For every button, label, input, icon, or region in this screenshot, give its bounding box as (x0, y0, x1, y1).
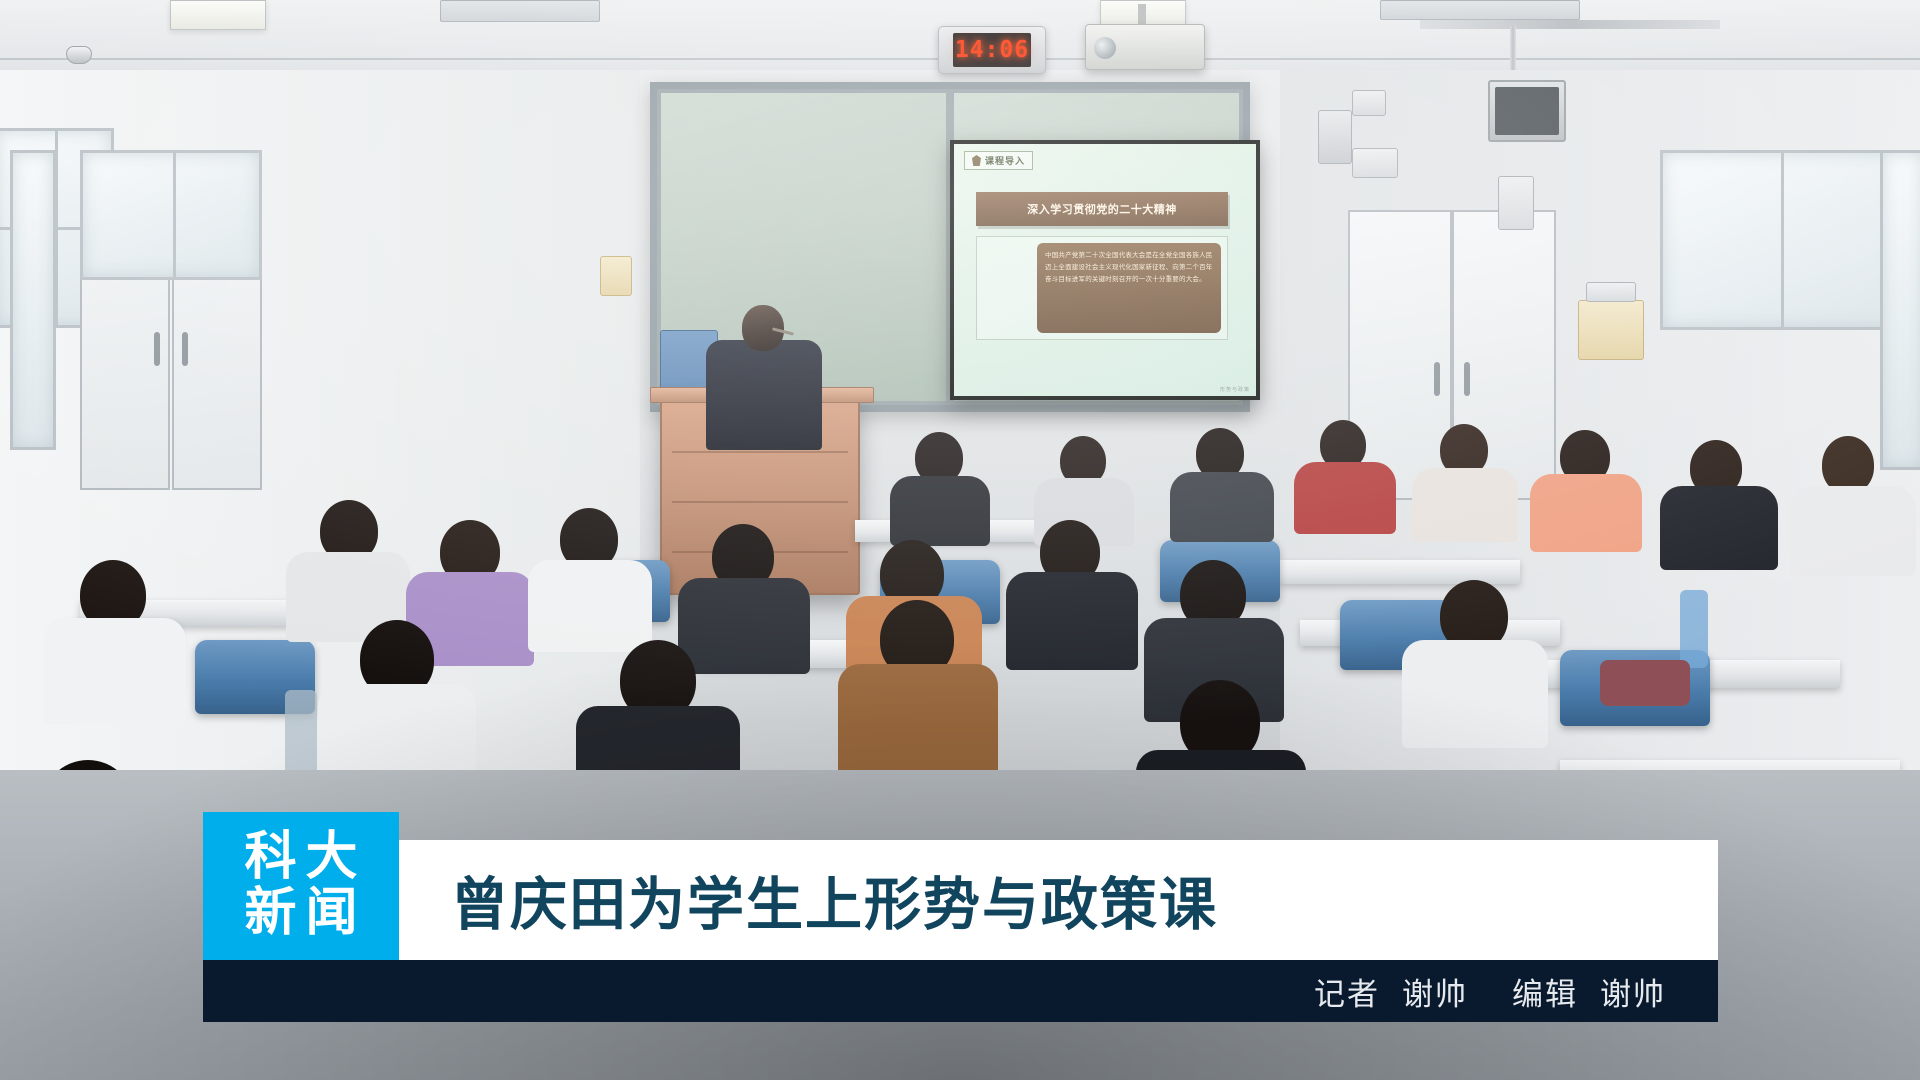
student-torso (1530, 474, 1642, 552)
water-bottle (285, 690, 317, 776)
slide-body: 中国共产党第二十次全国代表大会是在全党全国各族人民迈上全面建设社会主义现代化国家… (976, 236, 1228, 340)
slide-body-text: 中国共产党第二十次全国代表大会是在全党全国各族人民迈上全面建设社会主义现代化国家… (1037, 243, 1221, 333)
wall-box-small (1586, 282, 1636, 302)
student-torso (528, 560, 652, 652)
handbag (1600, 660, 1690, 706)
projector-mount (1138, 4, 1146, 26)
channel-logo: 科大 新闻 (203, 812, 399, 960)
statue-illustration (983, 244, 1031, 332)
window-right-side (1880, 150, 1920, 470)
student-desk (1280, 560, 1520, 584)
credit-bar: 记者谢帅编辑谢帅 (203, 960, 1718, 1022)
wall-monitor (1488, 80, 1566, 142)
channel-logo-line-1: 科大 (235, 831, 366, 885)
slide-footer-note: 形势与政策 (1220, 386, 1250, 393)
student-torso (1660, 486, 1778, 570)
headline-bar: 曾庆田为学生上形势与政策课 (399, 840, 1718, 960)
student-torso (890, 476, 990, 546)
channel-logo-line-2: 新闻 (235, 887, 366, 941)
slide-section-tag: 课程导入 (964, 151, 1033, 170)
ceiling-panel (440, 0, 600, 22)
student-torso (1790, 486, 1916, 576)
wall-box (1352, 148, 1398, 178)
wall-box-small (1352, 90, 1386, 116)
reporter-label: 记者 (1314, 977, 1380, 1013)
security-camera (66, 46, 92, 64)
reporter-name: 谢帅 (1402, 977, 1468, 1013)
ceiling-pipe (1420, 20, 1720, 29)
teacher-torso (706, 340, 822, 450)
lecture-slide: 课程导入 深入学习贯彻党的二十大精神 中国共产党第二十次全国代表大会是在全党全国… (954, 144, 1256, 396)
editor-label: 编辑 (1512, 977, 1578, 1013)
headline-text: 曾庆田为学生上形势与政策课 (451, 859, 1218, 941)
student-torso (838, 664, 998, 786)
student-torso (1170, 472, 1274, 542)
slide-section-label: 课程导入 (985, 154, 1025, 167)
clock-face: 14:06 (953, 33, 1031, 67)
slide-banner-title: 深入学习贯彻党的二十大精神 (976, 192, 1228, 226)
clock-time: 14:06 (955, 37, 1029, 63)
party-emblem-icon (972, 155, 981, 166)
water-bottle (1680, 590, 1708, 668)
digital-wall-clock: 14:06 (938, 26, 1046, 74)
wall-speaker (1318, 110, 1352, 164)
student-torso (1294, 462, 1396, 534)
student-torso (1006, 572, 1138, 670)
window-side (10, 150, 56, 450)
student-torso (44, 618, 186, 724)
window-right (1660, 150, 1900, 330)
projection-screen: 课程导入 深入学习贯彻党的二十大精神 中国共产党第二十次全国代表大会是在全党全国… (950, 140, 1260, 400)
student-torso (1412, 468, 1518, 542)
ceiling-panel (1380, 0, 1580, 20)
electrical-panel (1578, 300, 1644, 360)
editor-name: 谢帅 (1600, 977, 1666, 1013)
door-glass (80, 150, 262, 280)
projector (1085, 24, 1205, 70)
broadcast-frame: 14:06 课程导入 深入学习贯彻党的二十大精神 中国共产党第二十次全国代表大会… (0, 0, 1920, 1080)
student-torso (1402, 640, 1548, 748)
ceiling-light (170, 0, 266, 30)
credit-text: 记者谢帅编辑谢帅 (1314, 969, 1666, 1014)
student-torso (678, 578, 810, 674)
wall-outlet (600, 256, 632, 296)
wall-box (1498, 176, 1534, 230)
